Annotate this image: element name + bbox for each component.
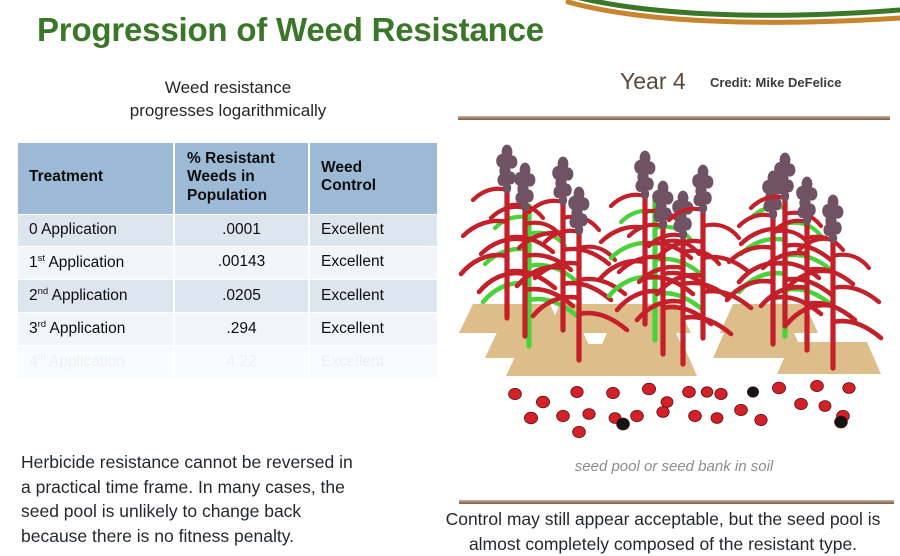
cell-treatment: 4th Application xyxy=(18,346,174,379)
cell-percent: .0205 xyxy=(174,280,309,313)
cell-control: Excellent xyxy=(309,346,437,379)
seed-resistant xyxy=(642,383,655,395)
right-body-line-1: Control may still appear acceptable, but… xyxy=(428,507,898,532)
weed-resistance-table: Treatment % Resistant Weeds in Populatio… xyxy=(18,143,437,378)
divider-bottom xyxy=(459,500,894,504)
seed-resistant xyxy=(711,413,723,424)
column-header-control-line-1: Weed xyxy=(321,159,362,176)
cell-percent: .294 xyxy=(174,313,309,346)
seed-resistant xyxy=(657,407,669,418)
seedhead xyxy=(496,145,517,194)
seedhead xyxy=(568,187,589,236)
treatment-rest: Application xyxy=(45,254,124,271)
treatment-label: 0 Application xyxy=(29,221,117,238)
column-header-control-line-2: Control xyxy=(321,177,376,194)
seed-resistant xyxy=(735,404,748,415)
column-header-percent-line-2: Weeds in xyxy=(187,168,255,185)
treatment-rest: Application xyxy=(46,320,125,337)
treatment-rest: Application xyxy=(46,353,125,370)
seed-resistant xyxy=(631,410,644,421)
seed-resistant xyxy=(524,412,537,424)
treatment-ordinal: rd xyxy=(38,319,46,330)
seed-resistant xyxy=(715,388,727,399)
table-row: 2nd Application .0205 Excellent xyxy=(18,280,437,313)
cell-control: Excellent xyxy=(309,246,437,279)
column-header-percent-resistant: % Resistant Weeds in Population xyxy=(174,143,309,214)
cell-control: Excellent xyxy=(309,280,437,313)
seed-resistant xyxy=(573,426,586,437)
right-body-line-2: almost completely composed of the resist… xyxy=(428,532,898,556)
seed-resistant xyxy=(557,410,570,421)
treatment-ordinal: th xyxy=(38,352,46,363)
seed-resistant xyxy=(607,387,620,398)
seedbank-caption: seed pool or seed bank in soil xyxy=(458,458,890,475)
left-body-line-3: seed pool is unlikely to change back xyxy=(21,499,441,524)
seed-resistant xyxy=(583,409,595,420)
treatment-ordinal: nd xyxy=(38,286,49,297)
cell-control: Excellent xyxy=(309,214,437,246)
seed-susceptible xyxy=(617,418,630,430)
table-caption-line-1: Weed resistance xyxy=(18,77,438,100)
soil-patch xyxy=(777,342,881,374)
seed-resistant xyxy=(536,396,549,408)
table-header-row: Treatment % Resistant Weeds in Populatio… xyxy=(18,143,437,214)
table-row: 1st Application .00143 Excellent xyxy=(18,246,437,279)
seed-resistant xyxy=(661,397,673,408)
cell-treatment: 3rd Application xyxy=(18,313,174,346)
treatment-number: 1 xyxy=(29,254,38,271)
seedhead xyxy=(634,151,655,200)
weed-field-illustration xyxy=(455,128,900,453)
seed-resistant xyxy=(689,410,702,421)
treatment-rest: Application xyxy=(48,287,127,304)
right-body-text: Control may still appear acceptable, but… xyxy=(428,507,898,556)
left-body-line-1: Herbicide resistance cannot be reversed … xyxy=(21,450,441,475)
table-caption: Weed resistance progresses logarithmical… xyxy=(18,77,438,123)
column-header-weed-control: Weed Control xyxy=(309,143,437,214)
credit-label: Credit: Mike DeFelice xyxy=(710,75,842,90)
seed-resistant xyxy=(755,414,767,425)
cell-control: Excellent xyxy=(309,313,437,346)
seed-resistant xyxy=(509,388,522,399)
treatment-number: 2 xyxy=(29,287,38,304)
cell-percent: 4.22 xyxy=(174,346,309,379)
seedhead xyxy=(692,165,713,214)
divider-top xyxy=(458,116,890,120)
seed-resistant xyxy=(811,380,824,391)
seed-resistant xyxy=(683,386,696,397)
column-header-percent-line-1: % Resistant xyxy=(187,150,275,167)
seed-susceptible xyxy=(835,416,848,428)
table-row: 3rd Application .294 Excellent xyxy=(18,313,437,346)
seed-resistant xyxy=(819,401,831,412)
table-row: 0 Application .0001 Excellent xyxy=(18,214,437,246)
left-body-text: Herbicide resistance cannot be reversed … xyxy=(21,450,441,549)
page-title: Progression of Weed Resistance xyxy=(37,11,544,49)
cell-percent: .0001 xyxy=(174,214,309,246)
treatment-number: 3 xyxy=(29,320,38,337)
swoosh-orange-curve xyxy=(568,2,900,22)
cell-treatment: 1st Application xyxy=(18,246,174,279)
cell-treatment: 2nd Application xyxy=(18,280,174,313)
table-row-faded: 4th Application 4.22 Excellent xyxy=(18,346,437,379)
seed-resistant xyxy=(701,387,713,397)
seed-resistant-group xyxy=(509,380,856,437)
seed-resistant xyxy=(571,386,583,397)
left-body-line-2: a practical time frame. In many cases, t… xyxy=(21,475,441,500)
seed-resistant xyxy=(772,382,785,394)
seed-susceptible xyxy=(747,387,758,397)
swoosh-green-curve xyxy=(572,0,900,15)
seed-bank xyxy=(509,380,856,437)
cell-percent: .00143 xyxy=(174,246,309,279)
treatment-ordinal: st xyxy=(38,253,45,264)
table-caption-line-2: progresses logarithmically xyxy=(18,100,438,123)
cell-treatment: 0 Application xyxy=(18,214,174,246)
seed-resistant xyxy=(795,398,808,409)
column-header-percent-line-3: Population xyxy=(187,187,267,204)
treatment-number: 4 xyxy=(29,353,38,370)
column-header-treatment-label: Treatment xyxy=(29,168,103,185)
seed-resistant xyxy=(843,383,855,394)
soil-patches xyxy=(459,304,881,376)
column-header-treatment: Treatment xyxy=(18,143,174,214)
year-label: Year 4 xyxy=(620,68,686,95)
